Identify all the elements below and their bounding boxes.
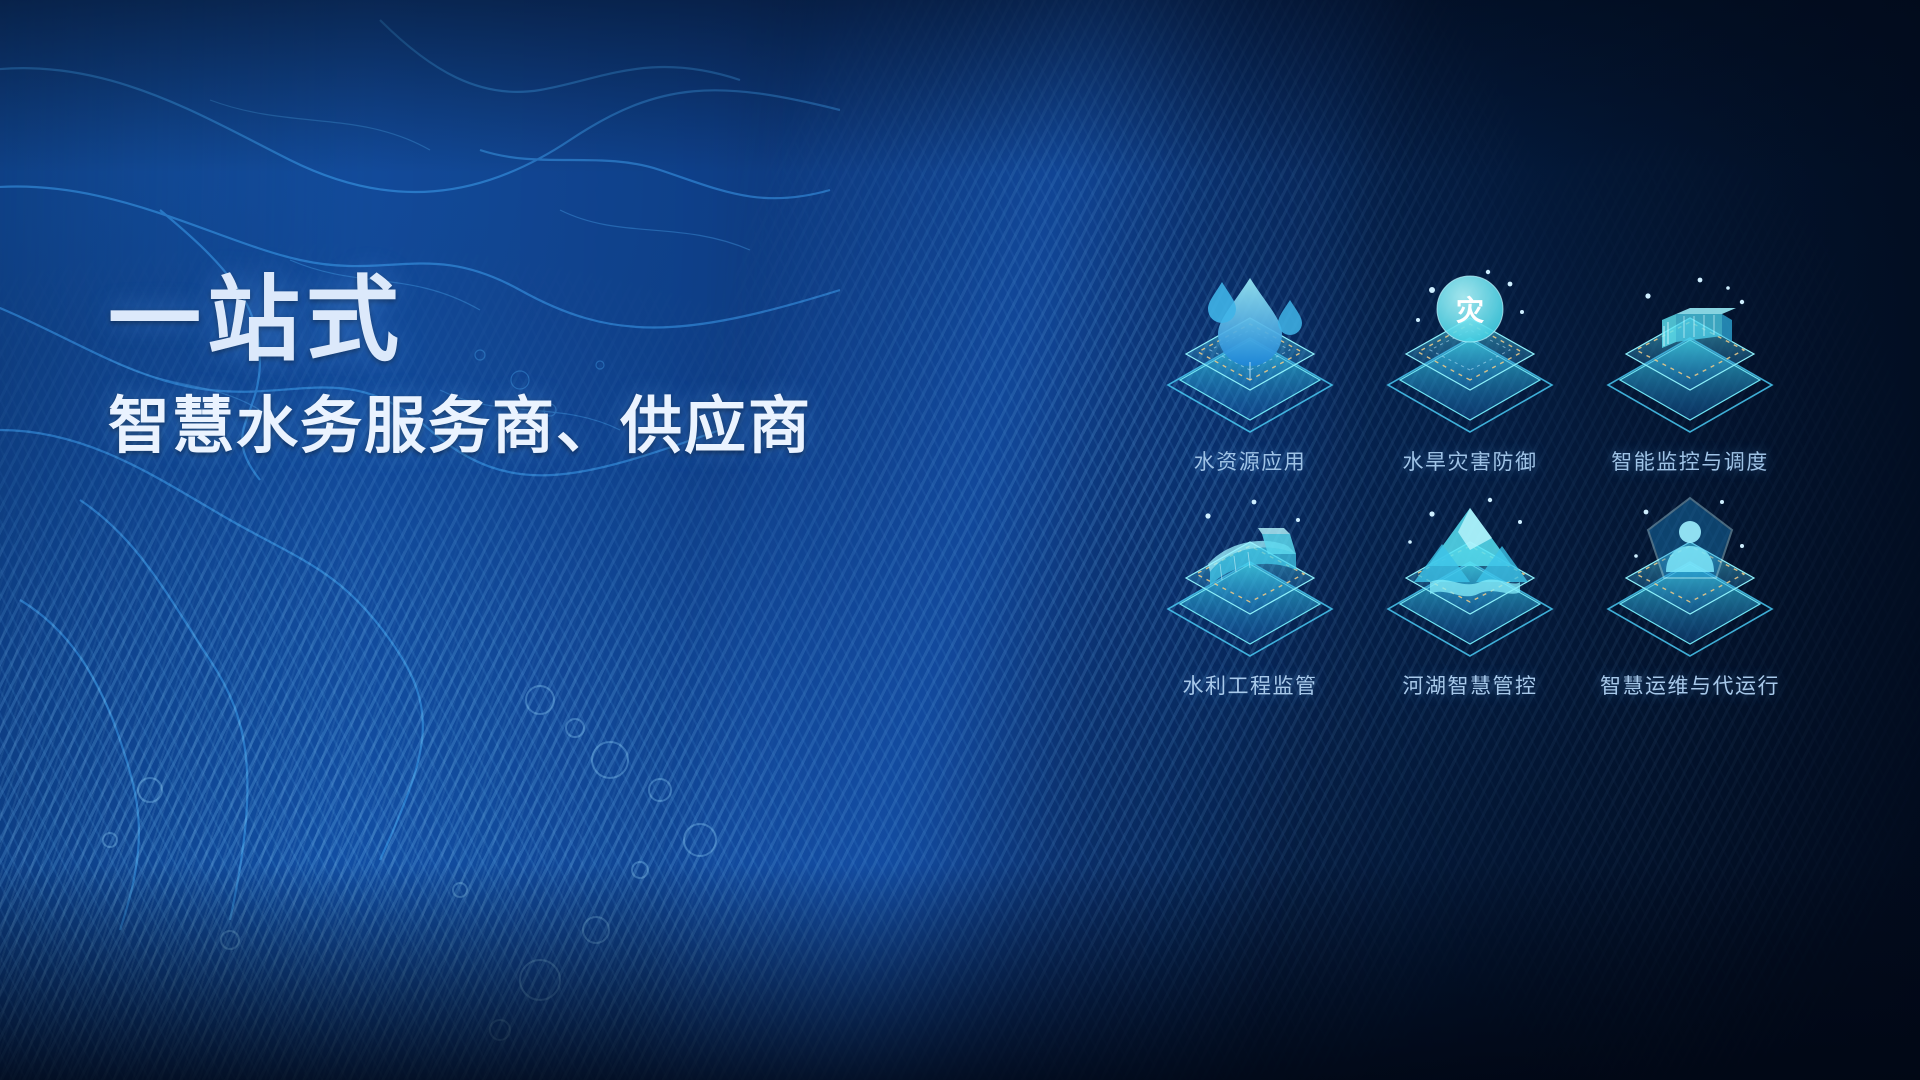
disaster-badge-text: 灾 [1456, 294, 1484, 326]
capability-icon-grid: 水资源应用 [1140, 262, 1800, 700]
capability-item-smart-operations[interactable]: 智慧运维与代运行 [1580, 486, 1800, 700]
capability-item-water-resource[interactable]: 水资源应用 [1140, 262, 1360, 476]
slide-canvas: 一站式 智慧水务服务商、供应商 [0, 0, 1920, 1080]
monitoring-station-icon [1590, 262, 1790, 452]
capability-item-smart-monitoring-dispatch[interactable]: 智能监控与调度 [1580, 262, 1800, 476]
page-subtitle: 智慧水务服务商、供应商 [108, 392, 1008, 461]
capability-item-river-lake-management[interactable]: 河湖智慧管控 [1360, 486, 1580, 700]
capability-item-flood-drought-defense[interactable]: 灾 水旱灾害防御 [1360, 262, 1580, 476]
page-title-block: 一站式 智慧水务服务商、供应商 [108, 272, 1008, 461]
disaster-sphere-icon: 灾 [1370, 262, 1570, 452]
page-title: 一站式 [108, 272, 1008, 370]
shield-operations-icon [1590, 486, 1790, 676]
river-lake-mountain-icon [1370, 486, 1570, 676]
capability-item-hydro-engineering-supervision[interactable]: 水利工程监管 [1140, 486, 1360, 700]
hydro-engineering-icon [1150, 486, 1350, 676]
water-drop-icon [1150, 262, 1350, 452]
